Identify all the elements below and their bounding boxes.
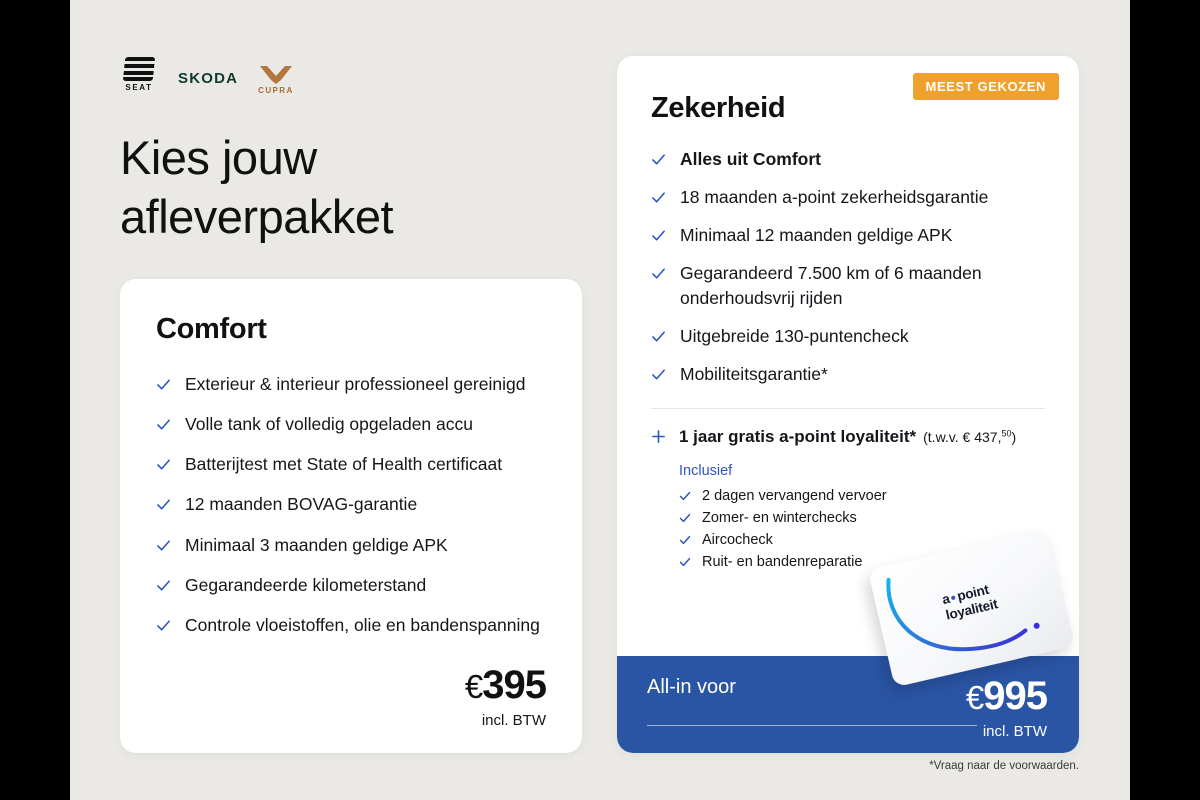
section-divider: [651, 408, 1045, 409]
feature-label: 12 maanden BOVAG-garantie: [185, 492, 417, 516]
list-item: Batterijtest met State of Health certifi…: [156, 452, 546, 476]
check-icon: [156, 618, 171, 633]
list-item: Uitgebreide 130-puntencheck: [651, 324, 1045, 348]
plus-icon: [651, 429, 666, 444]
cupra-mark-icon: [259, 65, 293, 85]
dot-icon: [951, 596, 956, 601]
addon-value: (t.w.v. € 437,50): [923, 429, 1016, 445]
cupra-logo-label: CUPRA: [258, 86, 293, 95]
price-amount-zekerheid: €995: [966, 676, 1047, 716]
check-icon: [651, 190, 666, 205]
skoda-logo-label: SKODA: [178, 70, 238, 95]
brand-logo-strip: SEAT SKODA CUPRA: [120, 55, 294, 95]
check-icon: [156, 497, 171, 512]
check-icon: [156, 538, 171, 553]
feature-label: Volle tank of volledig opgeladen accu: [185, 412, 473, 436]
addon-feature-label: Zomer- en winterchecks: [702, 510, 857, 526]
addon-feature-label: 2 dagen vervangend vervoer: [702, 488, 887, 504]
feature-label: Exterieur & interieur professioneel gere…: [185, 372, 525, 396]
inclusief-label: Inclusief: [679, 463, 1045, 479]
list-item: 12 maanden BOVAG-garantie: [156, 492, 546, 516]
footnote: *Vraag naar de voorwaarden.: [617, 760, 1079, 772]
package-card-comfort[interactable]: Comfort Exterieur & interieur profession…: [120, 279, 582, 753]
price-rule-divider: [647, 725, 977, 726]
list-item: Alles uit Comfort: [651, 147, 1045, 171]
list-item: 18 maanden a-point zekerheidsgarantie: [651, 185, 1045, 209]
feature-label: Controle vloeistoffen, olie en bandenspa…: [185, 613, 540, 637]
list-item: Gegarandeerde kilometerstand: [156, 573, 546, 597]
addon-value-prefix: (t.w.v. € 437,: [923, 429, 1001, 445]
price-block-comfort: €395 incl. BTW: [465, 665, 546, 729]
price-amount-comfort: €395: [465, 665, 546, 705]
check-icon: [651, 329, 666, 344]
addon-value-suffix: ): [1011, 429, 1016, 445]
check-icon: [651, 367, 666, 382]
package-title-comfort: Comfort: [156, 313, 546, 346]
addon-feature-label: Ruit- en bandenreparatie: [702, 554, 862, 570]
list-item: Zomer- en winterchecks: [679, 510, 1045, 526]
addon-value-sup: 50: [1001, 428, 1011, 438]
feature-label: Gegarandeerd 7.500 km of 6 maanden onder…: [680, 261, 1045, 309]
page-title: Kies jouw afleverpakket: [120, 128, 590, 246]
list-item: 2 dagen vervangend vervoer: [679, 488, 1045, 504]
check-icon: [651, 228, 666, 243]
check-icon: [679, 490, 691, 502]
price-right-group: €995 incl. BTW: [966, 676, 1047, 740]
list-item: Controle vloeistoffen, olie en bandenspa…: [156, 613, 546, 637]
check-icon: [156, 377, 171, 392]
check-icon: [651, 266, 666, 281]
feature-label: Minimaal 12 maanden geldige APK: [680, 223, 952, 247]
feature-list-zekerheid: Alles uit Comfort 18 maanden a-point zek…: [651, 147, 1045, 386]
page-canvas: SEAT SKODA CUPRA Kies jouw afleverpakket…: [70, 0, 1130, 800]
addon-header: 1 jaar gratis a-point loyaliteit*(t.w.v.…: [651, 427, 1045, 447]
check-icon: [156, 457, 171, 472]
list-item: Volle tank of volledig opgeladen accu: [156, 412, 546, 436]
price-vat-note-comfort: incl. BTW: [465, 712, 546, 729]
seat-mark-icon: [123, 57, 156, 81]
feature-label: Uitgebreide 130-puntencheck: [680, 324, 909, 348]
check-icon: [651, 152, 666, 167]
check-icon: [156, 417, 171, 432]
feature-label: 18 maanden a-point zekerheidsgarantie: [680, 185, 988, 209]
list-item: Minimaal 3 maanden geldige APK: [156, 533, 546, 557]
feature-label: Alles uit Comfort: [680, 147, 821, 171]
price-value: 395: [482, 663, 546, 707]
seat-logo-label: SEAT: [125, 83, 152, 92]
screen: SEAT SKODA CUPRA Kies jouw afleverpakket…: [0, 0, 1200, 800]
price-vat-note-zekerheid: incl. BTW: [966, 723, 1047, 740]
cupra-logo: CUPRA: [258, 65, 293, 95]
feature-list-comfort: Exterieur & interieur professioneel gere…: [156, 372, 546, 637]
check-icon: [679, 534, 691, 546]
list-item: Exterieur & interieur professioneel gere…: [156, 372, 546, 396]
price-block-zekerheid: All-in voor €995 incl. BTW: [617, 656, 1079, 753]
currency-symbol: €: [966, 679, 983, 716]
package-card-zekerheid[interactable]: MEEST GEKOZEN Zekerheid Alles uit Comfor…: [617, 56, 1079, 753]
feature-label: Batterijtest met State of Health certifi…: [185, 452, 502, 476]
seat-logo: SEAT: [120, 57, 158, 95]
list-item: Minimaal 12 maanden geldige APK: [651, 223, 1045, 247]
currency-symbol: €: [465, 668, 482, 705]
feature-label: Mobiliteitsgarantie*: [680, 362, 828, 386]
feature-label: Gegarandeerde kilometerstand: [185, 573, 426, 597]
addon-feature-label: Aircocheck: [702, 532, 773, 548]
check-icon: [679, 512, 691, 524]
feature-label: Minimaal 3 maanden geldige APK: [185, 533, 448, 557]
status-badge: MEEST GEKOZEN: [913, 73, 1059, 100]
price-prefix-label: All-in voor: [647, 676, 736, 699]
addon-title: 1 jaar gratis a-point loyaliteit*: [679, 427, 916, 446]
list-item: Mobiliteitsgarantie*: [651, 362, 1045, 386]
check-icon: [156, 578, 171, 593]
price-value: 995: [983, 674, 1047, 718]
list-item: Gegarandeerd 7.500 km of 6 maanden onder…: [651, 261, 1045, 309]
check-icon: [679, 556, 691, 568]
